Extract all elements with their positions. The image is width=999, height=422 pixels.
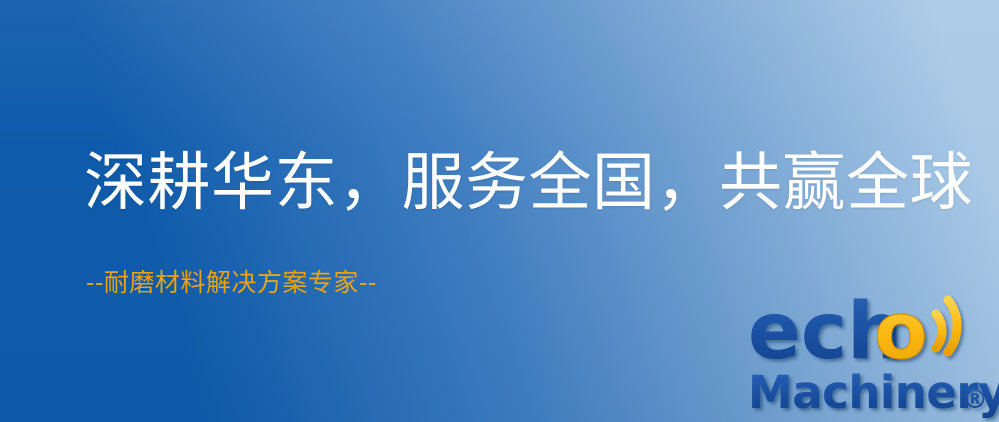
page-title: 深耕华东，服务全国，共赢全球 bbox=[84, 148, 973, 219]
echo-machinery-logo[interactable]: ech o Machinery ® bbox=[748, 296, 999, 422]
registered-trademark-icon: ® bbox=[962, 385, 988, 415]
banner-subtitle: --耐磨材料解决方案专家-- bbox=[86, 268, 377, 298]
logo-text-o: o bbox=[874, 287, 928, 377]
promo-banner: 深耕华东，服务全国，共赢全球 --耐磨材料解决方案专家-- bbox=[0, 0, 999, 422]
logo-tagline: Machinery ® bbox=[748, 366, 999, 419]
logo-letter-o: o bbox=[874, 287, 928, 377]
signal-wave-icon bbox=[936, 300, 957, 352]
